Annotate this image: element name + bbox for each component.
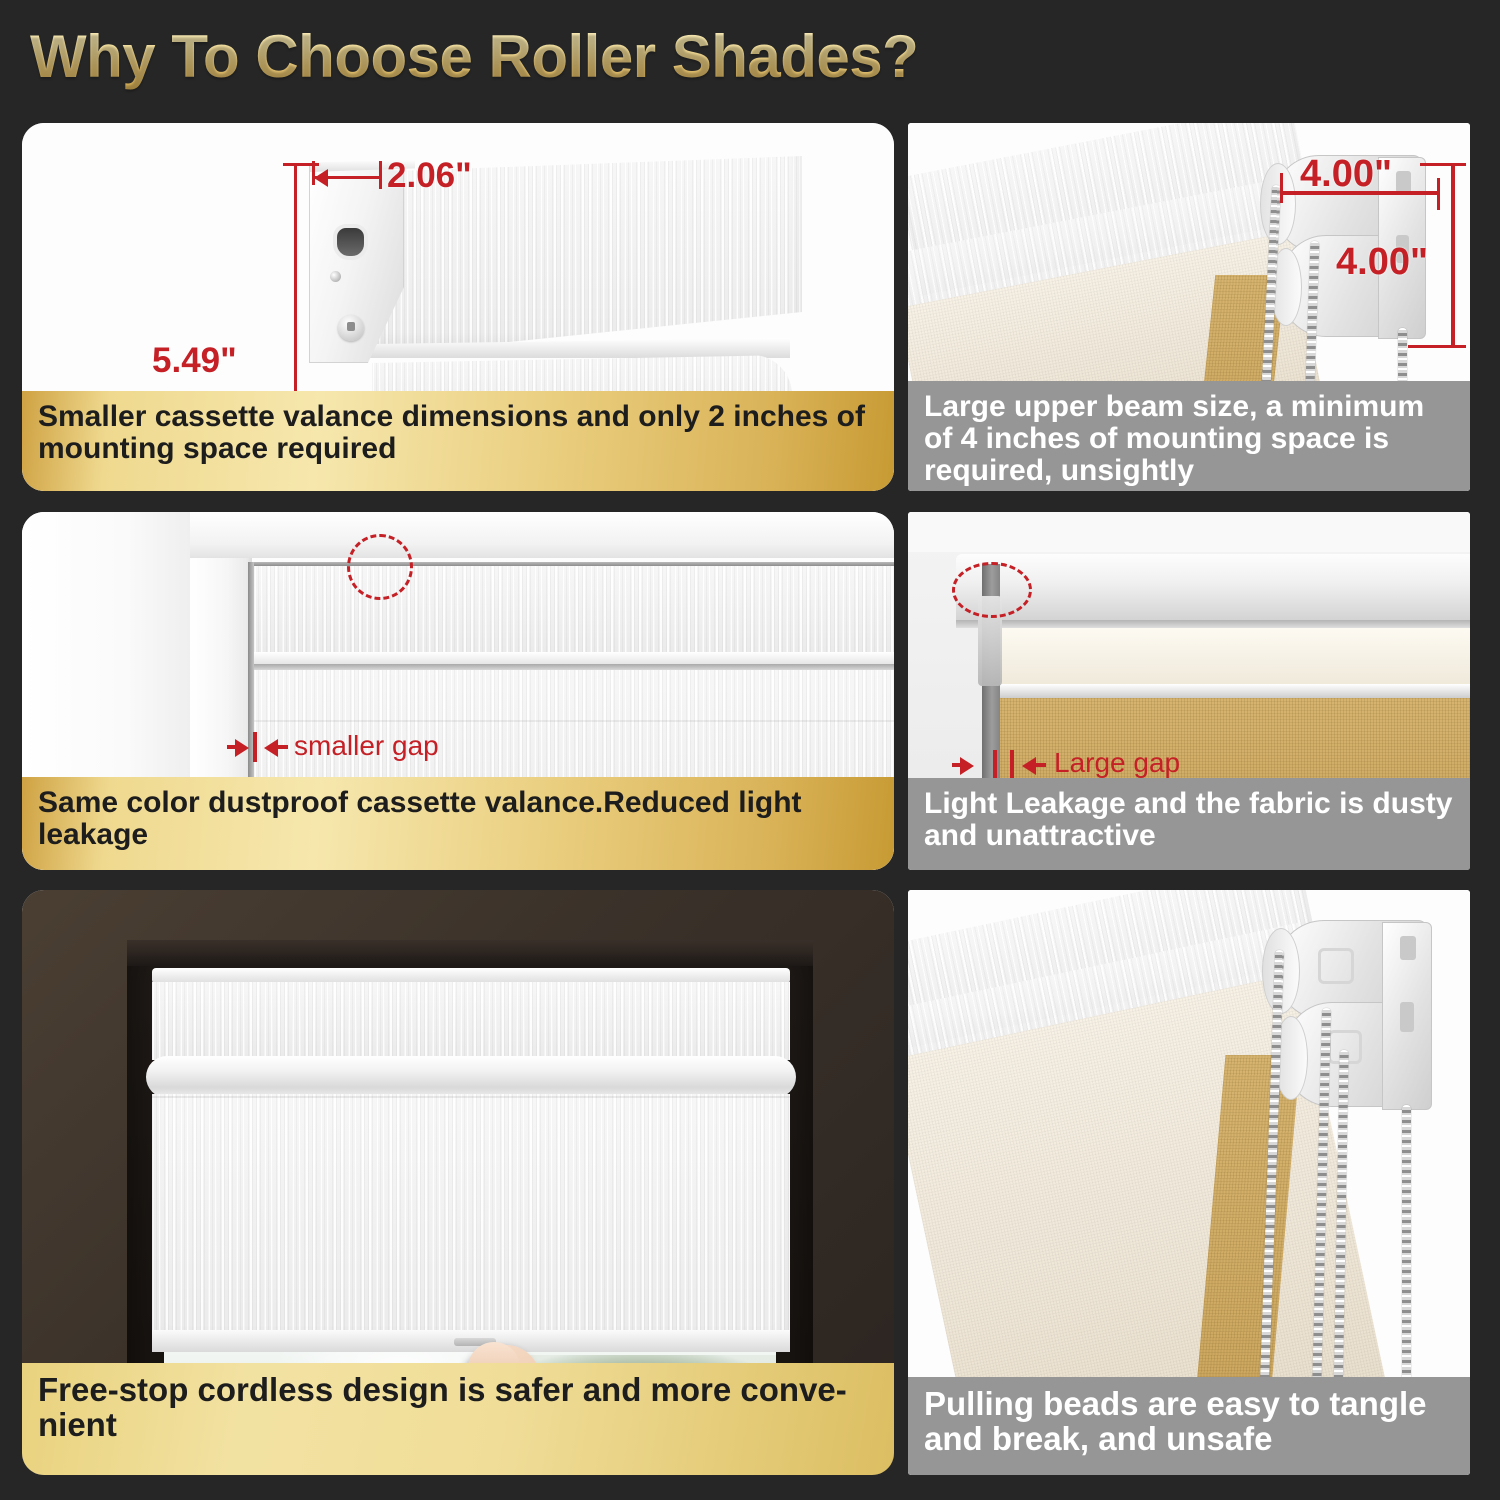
bracket-slot-top-6 [1400,936,1416,960]
large-gap-arrow-left-stem [952,763,962,767]
panel-dustproof-cassette: smaller gap Same color dustproof cassett… [22,512,894,870]
dim-4-00-h-tick-left [1280,173,1283,203]
dim-2-06-label: 2.06" [387,156,472,196]
panel-5-caption-text: Free-stop cordless design is safer and m… [38,1373,880,1443]
callout-circle-gap [347,534,413,600]
large-gap-tick-b [1010,750,1014,780]
panel-2-caption-text: Large upper beam size, a minimum of 4 in… [924,391,1456,486]
headrail-shadow [956,620,1470,628]
bracket-emblem-upper [1318,948,1354,984]
cream-valance [998,628,1470,686]
shade-valance-roll [146,1056,796,1098]
panel-4-caption-text: Light Leakage and the fabric is dusty an… [924,788,1456,852]
dim-4-00-h-tick-right [1437,178,1440,210]
ceiling-band [908,512,1470,552]
gap-label-large: Large gap [1054,747,1180,779]
panel-4-caption: Light Leakage and the fabric is dusty an… [908,778,1470,870]
panel-pulling-beads: Pulling beads are easy to tangle and bre… [908,890,1470,1475]
gap-arrow-left [235,739,249,757]
bracket-slot-top [1396,171,1411,193]
dim-2-06-arrow [314,169,328,187]
panel-smaller-cassette: 2.06" 5.49" Smaller cassette valance dim… [22,123,894,491]
dim-4-00-v-line [1451,163,1455,348]
panel-3-caption: Same color dustproof cassette valance.Re… [22,777,894,870]
gap-arrow-right [264,739,278,757]
shade-valance-panel [152,982,790,1060]
panel-5-caption: Free-stop cordless design is safer and m… [22,1363,894,1475]
large-gap-arrow-left [960,757,974,775]
panel-1-caption-text: Smaller cassette valance dimensions and … [38,401,880,465]
dim-5-49-cap-top [283,163,319,166]
panel-3-caption-text: Same color dustproof cassette valance.Re… [38,787,880,851]
window-reveal-top [127,940,813,966]
dim-4-00-v-cap-bottom [1408,345,1466,348]
panel-cordless-design: Free-stop cordless design is safer and m… [22,890,894,1475]
shade-fabric-seam [254,720,894,722]
headrail [956,554,1470,626]
dim-2-06-tick-right [379,161,382,189]
valance-lower-lip [990,684,1470,698]
window-frame-head [190,512,894,558]
callout-circle-large-gap [952,562,1032,618]
panel-1-caption: Smaller cassette valance dimensions and … [22,391,894,491]
panel-grid: 2.06" 5.49" Smaller cassette valance dim… [0,0,1500,1500]
large-gap-tick-a [993,750,997,780]
panel-6-caption: Pulling beads are easy to tangle and bre… [908,1377,1470,1475]
panel-light-leakage: Large gap Light Leakage and the fabric i… [908,512,1470,870]
dim-4-00-h-label: 4.00" [1300,153,1392,196]
panel-6-caption-text: Pulling beads are easy to tangle and bre… [924,1387,1456,1457]
end-cap-screw-lower [347,322,355,331]
panel-2-caption: Large upper beam size, a minimum of 4 in… [908,381,1470,491]
gap-label-smaller: smaller gap [294,730,439,762]
large-gap-arrow-right [1022,757,1036,775]
end-cap-clutch-port [337,228,364,256]
shade-main-fabric [152,1094,790,1349]
bracket-slot-mid-6 [1400,1002,1414,1032]
shade-fabric-seam-line [152,1096,790,1098]
dim-4-00-v-label: 4.00" [1336,241,1428,284]
large-gap-arrow-right-stem [1036,763,1046,767]
end-cap-screw-upper [330,271,341,282]
cassette-valance-bottom-edge [254,652,894,664]
bead-chain-right-6 [1402,1105,1411,1405]
gap-arrow-right-stem [278,745,288,749]
gap-arrow-left-stem [227,745,237,749]
gap-marker-tick [253,732,257,762]
panel-large-upper-beam: 4.00" 4.00" Large upper beam size, a min… [908,123,1470,491]
dim-4-00-v-cap-top [1420,163,1466,166]
dim-5-49-label: 5.49" [152,341,237,381]
